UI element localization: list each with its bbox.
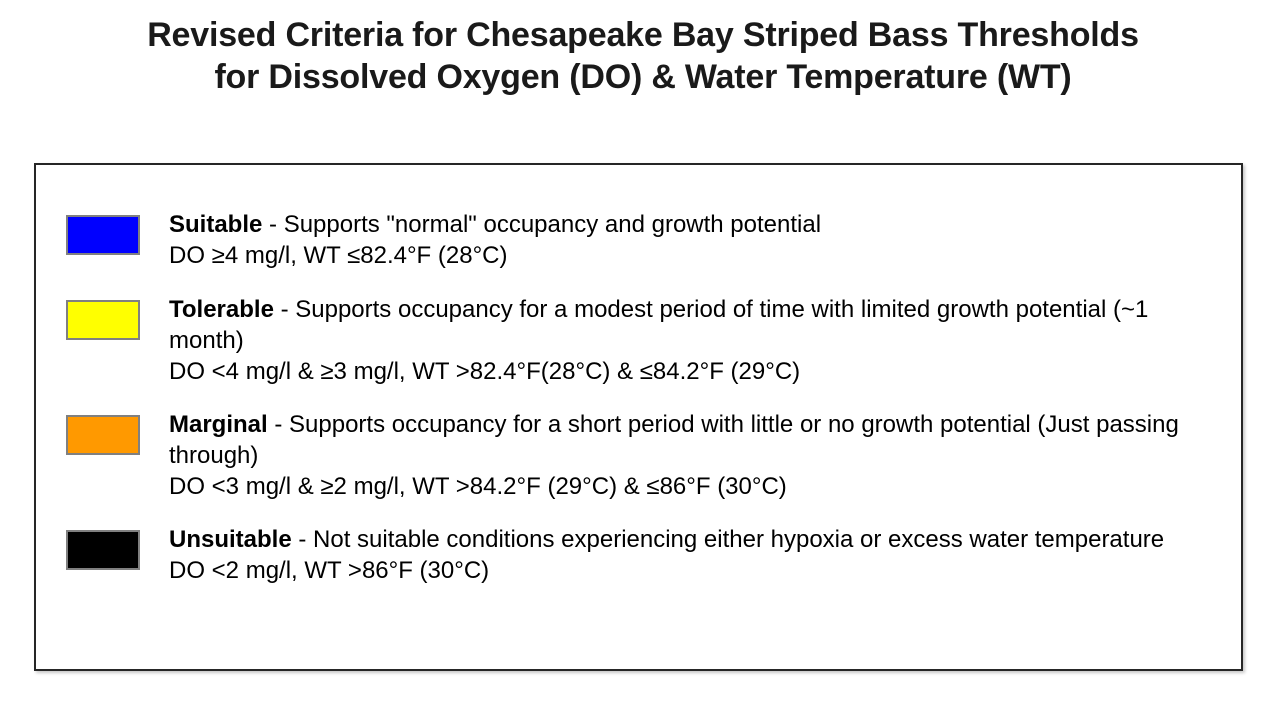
color-swatch-blue — [66, 215, 140, 255]
color-swatch-yellow — [66, 300, 140, 340]
legend-description: Supports occupancy for a short period wi… — [169, 411, 1179, 469]
legend-description: Supports occupancy for a modest period o… — [169, 296, 1148, 354]
legend-criteria: DO ≥4 mg/l, WT ≤82.4°F (28°C) — [169, 240, 1226, 271]
legend-entry-suitable: Suitable - Supports "normal" occupancy a… — [66, 209, 1226, 271]
page-title: Revised Criteria for Chesapeake Bay Stri… — [0, 14, 1286, 98]
legend-term: Suitable — [169, 211, 262, 238]
page-title-line-1: Revised Criteria for Chesapeake Bay Stri… — [0, 14, 1286, 56]
legend-list: Suitable - Supports "normal" occupancy a… — [36, 165, 1241, 669]
legend-separator: - — [274, 296, 295, 323]
legend-entry-marginal: Marginal - Supports occupancy for a shor… — [66, 409, 1226, 502]
legend-description-line: Tolerable - Supports occupancy for a mod… — [169, 294, 1226, 356]
legend-criteria: DO <4 mg/l & ≥3 mg/l, WT >82.4°F(28°C) &… — [169, 356, 1226, 387]
legend-term: Tolerable — [169, 296, 274, 323]
legend-separator: - — [268, 411, 289, 438]
legend-criteria: DO <2 mg/l, WT >86°F (30°C) — [169, 555, 1226, 586]
legend-entry-tolerable: Tolerable - Supports occupancy for a mod… — [66, 294, 1226, 387]
page-title-line-2: for Dissolved Oxygen (DO) & Water Temper… — [0, 56, 1286, 98]
legend-separator: - — [292, 526, 313, 553]
legend-entry-text: Marginal - Supports occupancy for a shor… — [169, 409, 1226, 502]
legend-description-line: Unsuitable - Not suitable conditions exp… — [169, 524, 1226, 555]
legend-entry-text: Suitable - Supports "normal" occupancy a… — [169, 209, 1226, 271]
legend-separator: - — [262, 211, 283, 238]
legend-term: Unsuitable — [169, 526, 292, 553]
color-swatch-black — [66, 530, 140, 570]
legend-term: Marginal — [169, 411, 268, 438]
legend-entry-text: Tolerable - Supports occupancy for a mod… — [169, 294, 1226, 387]
legend-entry-text: Unsuitable - Not suitable conditions exp… — [169, 524, 1226, 586]
legend-description: Supports "normal" occupancy and growth p… — [284, 211, 821, 238]
color-swatch-orange — [66, 415, 140, 455]
legend-criteria: DO <3 mg/l & ≥2 mg/l, WT >84.2°F (29°C) … — [169, 471, 1226, 502]
legend-description-line: Marginal - Supports occupancy for a shor… — [169, 409, 1226, 471]
legend-entry-unsuitable: Unsuitable - Not suitable conditions exp… — [66, 524, 1226, 586]
legend-description: Not suitable conditions experiencing eit… — [313, 526, 1164, 553]
legend-description-line: Suitable - Supports "normal" occupancy a… — [169, 209, 1226, 240]
legend-panel: Suitable - Supports "normal" occupancy a… — [34, 163, 1243, 671]
